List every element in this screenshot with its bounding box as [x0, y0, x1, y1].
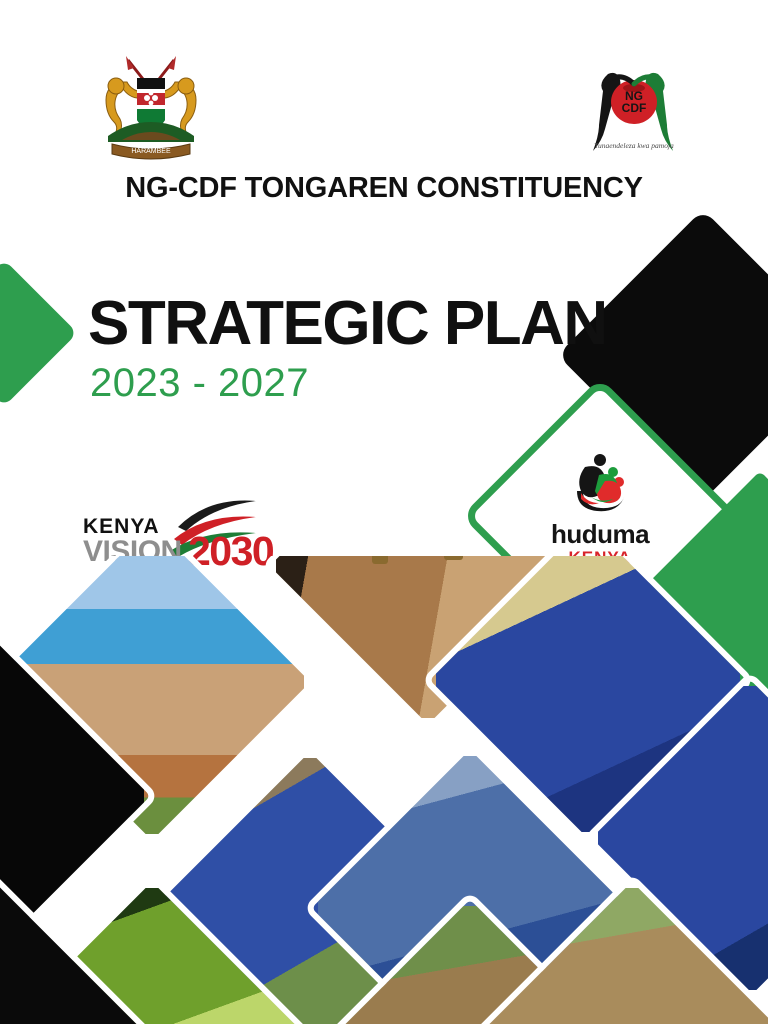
ng-cdf-logo-icon: NG CDF Tunaendeleza kwa pamoja — [578, 52, 690, 160]
page-title: STRATEGIC PLAN — [88, 293, 607, 355]
plan-period: 2023 - 2027 — [90, 363, 309, 403]
huduma-name-text: huduma — [551, 521, 649, 547]
ngcdf-tagline: Tunaendeleza kwa pamoja — [594, 141, 674, 150]
ngcdf-acronym-cdf: CDF — [622, 101, 647, 115]
coat-of-arms-motto: HARAMBEE — [131, 148, 171, 155]
kenya-coat-of-arms-icon: HARAMBEE — [92, 48, 210, 164]
organization-title: NG-CDF TONGAREN CONSTITUENCY — [0, 172, 768, 205]
green-diamond-decor-left — [0, 259, 78, 406]
cover-page: HARAMBEE NG CDF Tunaendeleza kwa pamoja … — [0, 0, 768, 1024]
huduma-mark-icon — [561, 453, 639, 519]
photo-mosaic — [0, 556, 768, 1024]
